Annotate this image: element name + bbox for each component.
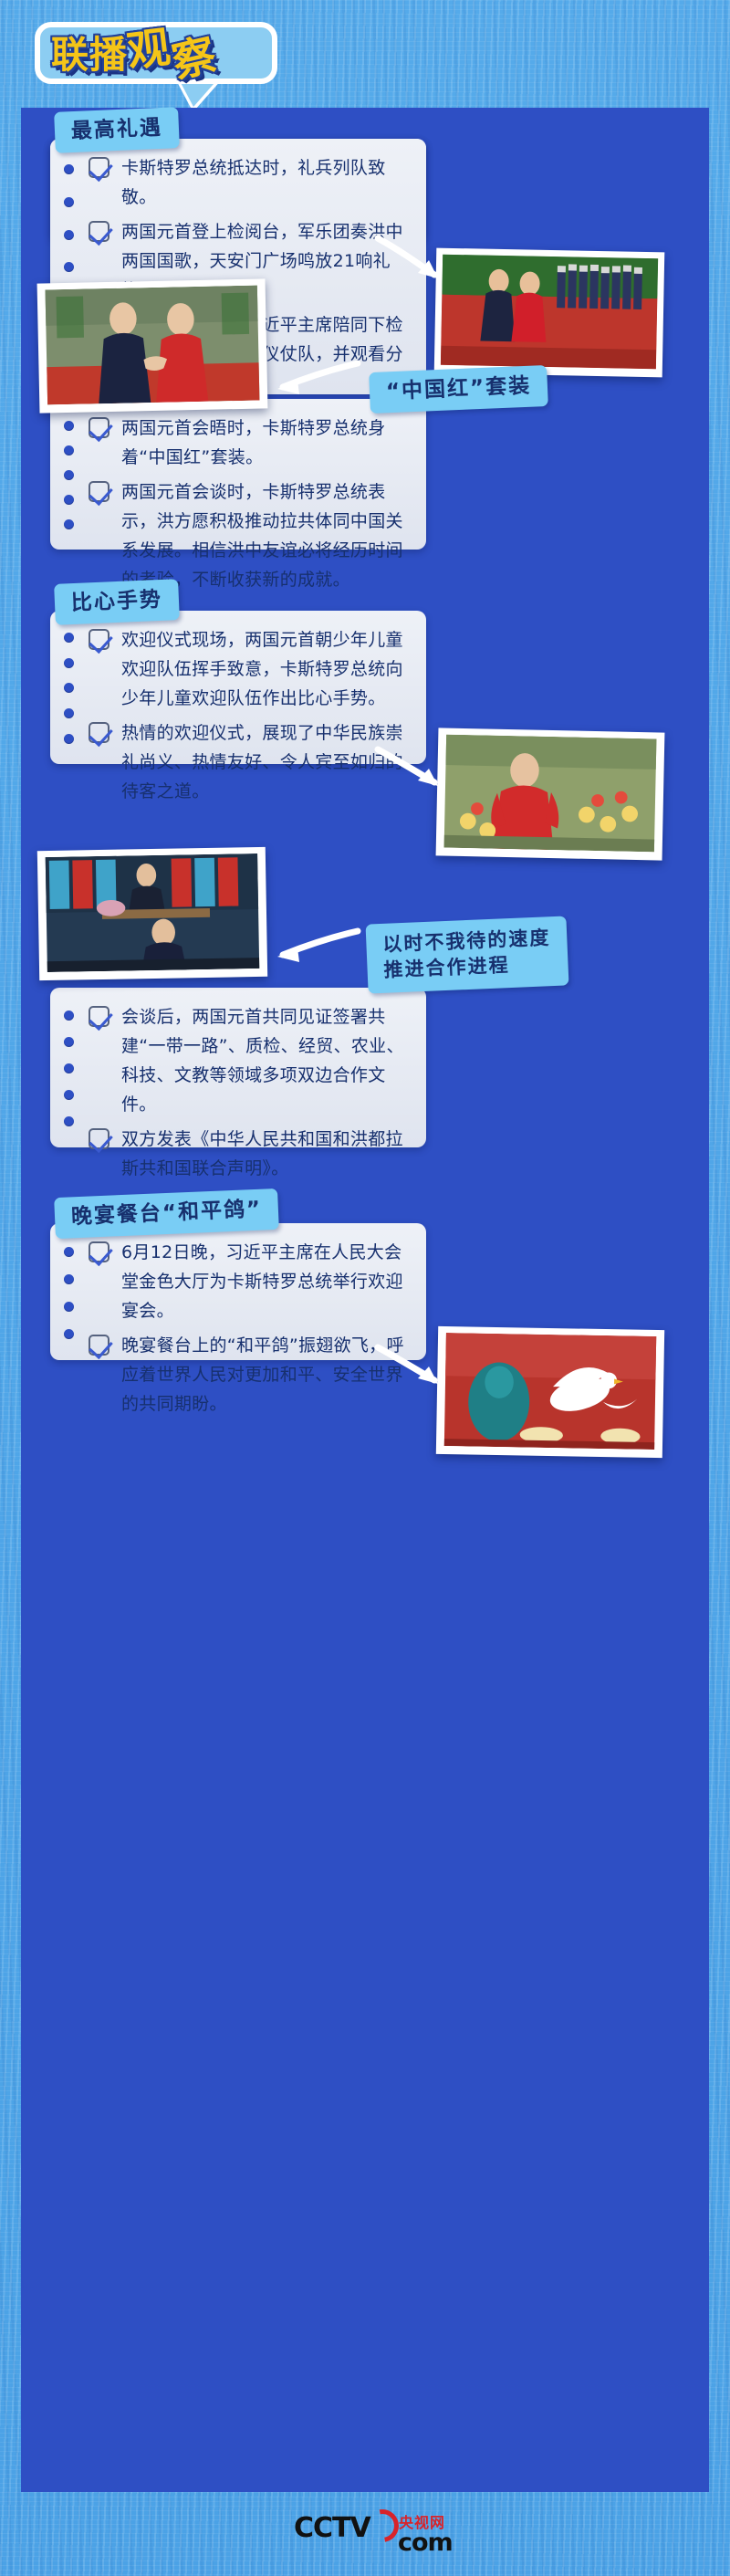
- brand-logo-text: 联播观察: [51, 24, 270, 84]
- section-5-items: 6月12日晚，习近平主席在人民大会堂金色大厅为卡斯特罗总统举行欢迎宴会。 晚宴餐…: [89, 1238, 410, 1419]
- list-item: 卡斯特罗总统抵达时，礼兵列队致敬。: [89, 153, 410, 212]
- photo-image: [443, 735, 659, 853]
- spine-dot: [64, 1274, 74, 1284]
- header: 联播观察: [0, 0, 730, 108]
- photo-art: [443, 735, 659, 853]
- photo-image: [443, 1333, 658, 1450]
- arrow-to-speed-label: [274, 922, 361, 966]
- cctv-swoosh-icon: [366, 2517, 390, 2540]
- spine-dot: [64, 633, 74, 643]
- spine-dot: [64, 495, 74, 505]
- list-item: 两国元首会晤时，卡斯特罗总统身着“中国红”套装。: [89, 414, 410, 472]
- check-icon: [89, 481, 109, 502]
- arrow-to-honor-guard-photo: [374, 233, 445, 289]
- spine-dot: [64, 683, 74, 693]
- list-item-text: 热情的欢迎仪式，展现了中华民族崇礼尚义、热情友好、令人宾至如归的待客之道。: [121, 723, 403, 801]
- check-icon: [89, 417, 109, 438]
- section-card-4: 会谈后，两国元首共同见证签署共建“一带一路”、质检、经贸、农业、科技、文教等领域…: [50, 988, 426, 1147]
- arrow-to-china-red-label: [274, 356, 361, 398]
- spine-dot: [64, 1329, 74, 1339]
- spine-dot: [64, 1011, 74, 1021]
- spine-dot: [64, 1090, 74, 1100]
- logo-part-b: 观: [124, 17, 175, 82]
- section-label-3: 比心手势: [54, 579, 180, 625]
- spine-dot: [64, 734, 74, 744]
- arrow-to-heart-gesture-photo: [374, 744, 445, 797]
- handshake-welcome-photo: [37, 278, 268, 413]
- list-item-text: 双方发表《中华人民共和国和洪都拉斯共和国联合声明》。: [121, 1129, 403, 1178]
- check-icon: [89, 157, 109, 178]
- check-icon: [89, 1006, 109, 1027]
- logo-part-a: 联播: [51, 33, 128, 77]
- spine-dot: [64, 1116, 74, 1126]
- spine-dot: [64, 421, 74, 431]
- section-card-2: 两国元首会晤时，卡斯特罗总统身着“中国红”套装。 两国元首会谈时，卡斯特罗总统表…: [50, 399, 426, 550]
- card-spine: [62, 625, 75, 751]
- list-item: 双方发表《中华人民共和国和洪都拉斯共和国联合声明》。: [89, 1125, 410, 1183]
- list-item: 热情的欢迎仪式，展现了中华民族崇礼尚义、热情友好、令人宾至如归的待客之道。: [89, 718, 410, 806]
- card-spine: [62, 1238, 75, 1347]
- check-icon: [89, 629, 109, 650]
- list-item-text: 6月12日晚，习近平主席在人民大会堂金色大厅为卡斯特罗总统举行欢迎宴会。: [121, 1242, 403, 1321]
- list-item-text: 两国元首会晤时，卡斯特罗总统身着“中国红”套装。: [121, 418, 386, 467]
- photo-art: [443, 1333, 658, 1450]
- card-spine: [62, 414, 75, 537]
- spine-dot: [64, 197, 74, 207]
- spine-dot: [64, 1247, 74, 1257]
- photo-image: [441, 255, 658, 370]
- section-card-5: 6月12日晚，习近平主席在人民大会堂金色大厅为卡斯特罗总统举行欢迎宴会。 晚宴餐…: [50, 1223, 426, 1360]
- section-label-4: 以时不我待的速度 推进合作进程: [366, 916, 569, 993]
- spine-dot: [64, 470, 74, 480]
- list-item: 6月12日晚，习近平主席在人民大会堂金色大厅为卡斯特罗总统举行欢迎宴会。: [89, 1238, 410, 1325]
- spine-dot: [64, 1063, 74, 1073]
- section-2-items: 两国元首会晤时，卡斯特罗总统身着“中国红”套装。 两国元首会谈时，卡斯特罗总统表…: [89, 414, 410, 594]
- spine-dot: [64, 445, 74, 456]
- section-label-1: 最高礼遇: [54, 107, 180, 153]
- spine-dot: [64, 164, 74, 174]
- list-item: 会谈后，两国元首共同见证签署共建“一带一路”、质检、经贸、农业、科技、文教等领域…: [89, 1002, 410, 1119]
- photo-art: [44, 853, 261, 972]
- section-4-items: 会谈后，两国元首共同见证签署共建“一带一路”、质检、经贸、农业、科技、文教等领域…: [89, 1002, 410, 1183]
- section-label-2: “中国红”套装: [369, 365, 548, 414]
- list-item-text: 两国元首会谈时，卡斯特罗总统表示，洪方愿积极推动拉共体同中国关系发展。相信洪中友…: [121, 482, 403, 590]
- check-icon: [89, 1335, 109, 1356]
- cctv-domain: com: [398, 2529, 453, 2557]
- photo-art: [44, 286, 262, 405]
- list-item: 两国元首会谈时，卡斯特罗总统表示，洪方愿积极推动拉共体同中国关系发展。相信洪中友…: [89, 477, 410, 594]
- cctv-wordmark: CCTV: [294, 2512, 370, 2544]
- peace-dove-banquet-photo: [436, 1326, 664, 1458]
- honor-guard-review-photo: [434, 248, 665, 378]
- spine-dot: [64, 230, 74, 240]
- logo-part-c: 察: [167, 25, 224, 93]
- photo-image: [44, 286, 262, 405]
- spine-dot: [64, 1037, 74, 1047]
- spine-dot: [64, 1302, 74, 1312]
- check-icon: [89, 221, 109, 242]
- spine-dot: [64, 708, 74, 718]
- spine-dot: [64, 658, 74, 668]
- list-item: 晚宴餐台上的“和平鸽”振翅欲飞，呼应着世界人民对更加和平、安全世界的共同期盼。: [89, 1331, 410, 1419]
- card-spine: [62, 1002, 75, 1135]
- list-item-text: 会谈后，两国元首共同见证签署共建“一带一路”、质检、经贸、农业、科技、文教等领域…: [121, 1007, 404, 1115]
- list-item-text: 晚宴餐台上的“和平鸽”振翅欲飞，呼应着世界人民对更加和平、安全世界的共同期盼。: [121, 1335, 404, 1414]
- arrow-to-peace-dove-photo: [374, 1342, 445, 1395]
- check-icon: [89, 722, 109, 743]
- list-item-text: 欢迎仪式现场，两国元首朝少年儿童欢迎队伍挥手致意，卡斯特罗总统向少年儿童欢迎队伍…: [121, 630, 403, 708]
- photo-image: [44, 853, 261, 972]
- section-3-items: 欢迎仪式现场，两国元首朝少年儿童欢迎队伍挥手致意，卡斯特罗总统向少年儿童欢迎队伍…: [89, 625, 410, 806]
- cctv-logo: CCTV: [294, 2512, 386, 2544]
- section-card-3: 欢迎仪式现场，两国元首朝少年儿童欢迎队伍挥手致意，卡斯特罗总统向少年儿童欢迎队伍…: [50, 611, 426, 764]
- check-icon: [89, 1128, 109, 1149]
- check-icon: [89, 1241, 109, 1262]
- list-item-text: 卡斯特罗总统抵达时，礼兵列队致敬。: [121, 158, 386, 207]
- spine-dot: [64, 262, 74, 272]
- signing-ceremony-photo: [37, 847, 267, 980]
- photo-art: [441, 255, 658, 370]
- spine-dot: [64, 519, 74, 529]
- heart-gesture-photo: [436, 728, 665, 860]
- list-item: 欢迎仪式现场，两国元首朝少年儿童欢迎队伍挥手致意，卡斯特罗总统向少年儿童欢迎队伍…: [89, 625, 410, 713]
